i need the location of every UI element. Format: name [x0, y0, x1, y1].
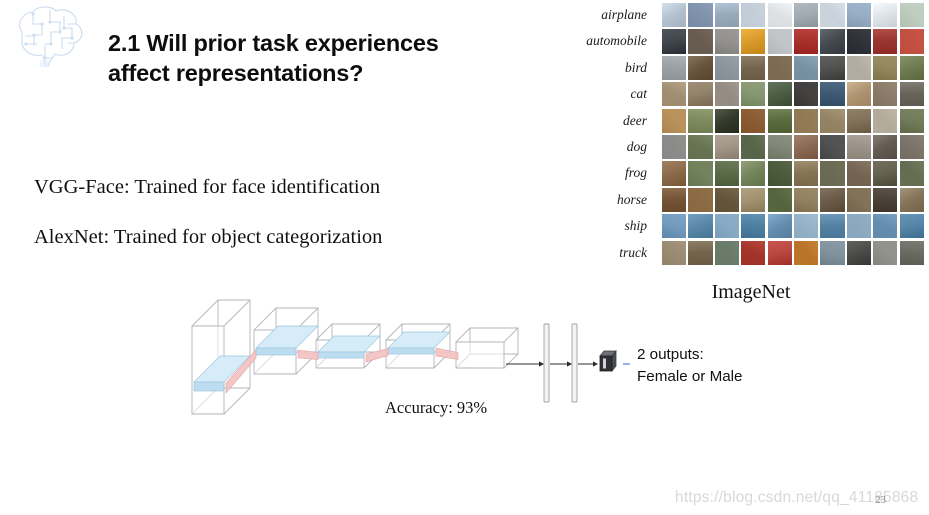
class-label-column: airplaneautomobilebirdcatdeerdogfroghors… — [573, 2, 651, 266]
thumbnail — [688, 135, 712, 159]
class-label: automobile — [573, 28, 651, 54]
thumbnail — [820, 241, 844, 265]
page-title: 2.1 Will prior task experiences affect r… — [108, 28, 538, 88]
conv-block-1-edge — [192, 300, 218, 326]
thumbnail — [688, 3, 712, 27]
thumbnail — [715, 56, 739, 80]
thumbnail — [900, 241, 924, 265]
thumbnail — [820, 188, 844, 212]
body-line-vggface: VGG-Face: Trained for face identificatio… — [34, 176, 380, 199]
thumbnail-grid — [661, 2, 925, 266]
thumbnail — [873, 135, 897, 159]
conv-block-2-edge — [254, 308, 276, 330]
thumbnail — [715, 109, 739, 133]
thumbnail — [662, 161, 686, 185]
thumbnail — [662, 214, 686, 238]
fc-layer-1 — [544, 324, 549, 402]
conv-slab-2-face — [256, 348, 296, 355]
thumbnail — [794, 241, 818, 265]
imagenet-sample-panel: airplaneautomobilebirdcatdeerdogfroghors… — [573, 0, 929, 315]
conv-block-5-edge — [456, 328, 470, 342]
output-node-highlight — [603, 359, 606, 369]
arrow-fc2-to-output-head — [593, 361, 598, 366]
thumbnail — [715, 135, 739, 159]
conv-slab-1-face — [194, 382, 224, 391]
thumbnail — [688, 109, 712, 133]
thumbnail — [900, 3, 924, 27]
accuracy-label: Accuracy: 93% — [385, 398, 487, 418]
thumbnail — [794, 135, 818, 159]
conv-block-5-edge — [504, 354, 518, 368]
thumbnail — [662, 241, 686, 265]
thumbnail — [768, 29, 792, 53]
thumbnail — [820, 3, 844, 27]
conv-block-1-edge — [224, 388, 250, 414]
thumbnail — [662, 82, 686, 106]
thumbnail — [900, 29, 924, 53]
thumbnail — [820, 161, 844, 185]
thumbnail — [820, 29, 844, 53]
thumbnail — [873, 82, 897, 106]
thumbnail — [688, 241, 712, 265]
fc-layer-2 — [572, 324, 577, 402]
thumbnail — [900, 109, 924, 133]
thumbnail — [741, 56, 765, 80]
thumbnail — [715, 188, 739, 212]
arrow-conv-to-fc1-head — [539, 361, 544, 366]
page-number: 23 — [875, 494, 886, 506]
thumbnail — [847, 82, 871, 106]
class-label: truck — [573, 240, 651, 266]
conv-slab-3-face — [318, 352, 364, 358]
conv-slab-4-face — [388, 348, 434, 354]
thumbnail — [662, 3, 686, 27]
thumbnail — [900, 82, 924, 106]
thumbnail — [768, 3, 792, 27]
thumbnail — [873, 214, 897, 238]
thumbnail — [900, 56, 924, 80]
thumbnail — [741, 161, 765, 185]
thumbnail — [873, 3, 897, 27]
thumbnail — [847, 214, 871, 238]
thumbnail — [688, 188, 712, 212]
thumbnail — [768, 56, 792, 80]
thumbnail — [873, 241, 897, 265]
thumbnail — [847, 29, 871, 53]
thumbnail — [715, 29, 739, 53]
thumbnail — [847, 188, 871, 212]
thumbnail — [794, 3, 818, 27]
thumbnail — [873, 29, 897, 53]
class-label: dog — [573, 134, 651, 160]
thumbnail — [847, 109, 871, 133]
thumbnail — [820, 109, 844, 133]
class-label: ship — [573, 213, 651, 239]
thumbnail — [768, 109, 792, 133]
thumbnail — [688, 161, 712, 185]
thumbnail — [873, 109, 897, 133]
thumbnail — [900, 161, 924, 185]
thumbnail — [768, 188, 792, 212]
class-label: bird — [573, 55, 651, 81]
thumbnail — [794, 188, 818, 212]
thumbnail — [900, 214, 924, 238]
thumbnail — [873, 161, 897, 185]
class-label: horse — [573, 187, 651, 213]
thumbnail — [662, 56, 686, 80]
thumbnail — [847, 241, 871, 265]
thumbnail — [741, 109, 765, 133]
arrow-fc1-to-fc2-head — [567, 361, 572, 366]
slide-canvas: 2.1 Will prior task experiences affect r… — [0, 0, 929, 515]
thumbnail — [794, 214, 818, 238]
thumbnail — [794, 56, 818, 80]
thumbnail — [794, 161, 818, 185]
thumbnail — [741, 241, 765, 265]
class-label: frog — [573, 160, 651, 186]
thumbnail — [741, 135, 765, 159]
thumbnail — [820, 135, 844, 159]
body-line-alexnet: AlexNet: Trained for object categorizati… — [34, 226, 382, 249]
thumbnail — [768, 161, 792, 185]
thumbnail — [741, 214, 765, 238]
thumbnail — [662, 135, 686, 159]
thumbnail — [715, 214, 739, 238]
brain-circuit-icon — [4, 2, 96, 68]
thumbnail — [820, 214, 844, 238]
class-label: airplane — [573, 2, 651, 28]
thumbnail — [820, 82, 844, 106]
thumbnail — [847, 3, 871, 27]
thumbnail — [794, 109, 818, 133]
thumbnail — [688, 214, 712, 238]
thumbnail — [741, 29, 765, 53]
thumbnail — [688, 56, 712, 80]
thumbnail — [662, 29, 686, 53]
thumbnail — [741, 82, 765, 106]
thumbnail — [662, 188, 686, 212]
output-label: 2 outputs: Female or Male — [637, 344, 743, 387]
conv-block-5-front — [456, 342, 504, 368]
thumbnail — [768, 214, 792, 238]
thumbnail — [768, 135, 792, 159]
thumbnail — [820, 56, 844, 80]
thumbnail — [900, 188, 924, 212]
thumbnail — [768, 241, 792, 265]
thumbnail — [873, 56, 897, 80]
thumbnail — [847, 56, 871, 80]
thumbnail — [847, 161, 871, 185]
thumbnail — [688, 82, 712, 106]
thumbnail — [847, 135, 871, 159]
thumbnail — [873, 188, 897, 212]
thumbnail — [715, 3, 739, 27]
thumbnail — [794, 29, 818, 53]
thumbnail — [715, 161, 739, 185]
thumbnail — [900, 135, 924, 159]
thumbnail — [768, 82, 792, 106]
thumbnail — [741, 3, 765, 27]
thumbnail — [794, 82, 818, 106]
thumbnail — [688, 29, 712, 53]
class-label: deer — [573, 108, 651, 134]
thumbnail — [741, 188, 765, 212]
class-label: cat — [573, 81, 651, 107]
thumbnail — [715, 82, 739, 106]
thumbnail — [715, 241, 739, 265]
thumbnail — [662, 109, 686, 133]
